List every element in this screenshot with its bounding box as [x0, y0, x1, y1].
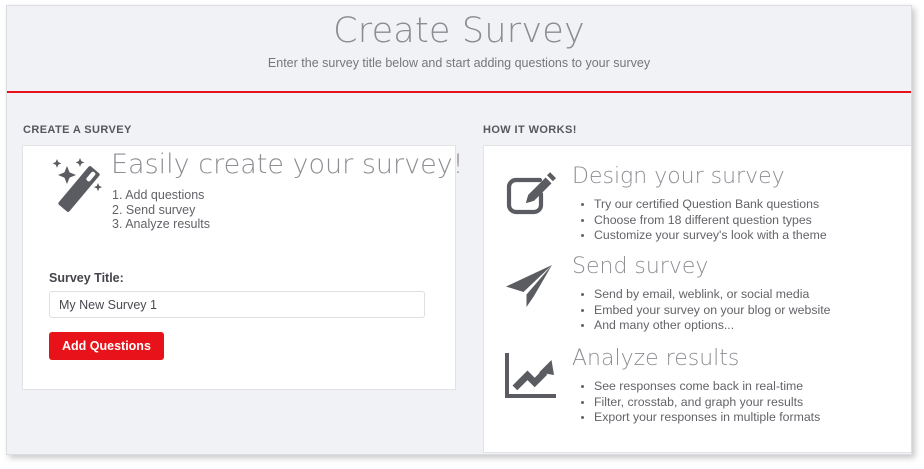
feature-bullets: Try our certified Question Bank question…: [576, 197, 827, 244]
bullet-item: Customize your survey's look with a them…: [594, 228, 827, 244]
feature-bullets: Send by email, weblink, or social media …: [576, 287, 831, 334]
create-survey-column: CREATE A SURVEY Easily create your surve…: [7, 93, 475, 454]
bullet-item: Send by email, weblink, or social media: [594, 287, 831, 303]
feature-heading: Design your survey: [572, 164, 785, 189]
app-window: Create Survey Enter the survey title bel…: [6, 5, 912, 455]
bullet-item: Filter, crosstab, and graph your results: [594, 395, 820, 411]
feature-heading: Send survey: [572, 254, 708, 279]
bullet-item: And many other options...: [594, 318, 831, 334]
bullet-item: Try our certified Question Bank question…: [594, 197, 827, 213]
feature-bullets: See responses come back in real-time Fil…: [576, 379, 820, 426]
step-item: 3. Analyze results: [112, 217, 210, 232]
bullet-item: Embed your survey on your blog or websit…: [594, 303, 831, 319]
add-questions-button[interactable]: Add Questions: [49, 332, 164, 360]
step-item: 2. Send survey: [112, 203, 210, 218]
how-it-works-card: Design your survey Try our certified Que…: [483, 145, 912, 453]
pencil-edit-icon: [502, 170, 558, 222]
feature-heading: Analyze results: [572, 346, 739, 371]
bullet-item: Export your responses in multiple format…: [594, 410, 820, 426]
bullet-item: Choose from 18 different question types: [594, 213, 827, 229]
create-survey-card: Easily create your survey! 1. Add questi…: [22, 145, 456, 390]
page-subtitle: Enter the survey title below and start a…: [7, 56, 911, 70]
how-it-works-column: HOW IT WORKS! Design your survey: [475, 93, 911, 454]
paper-plane-icon: [502, 260, 558, 312]
page-header: Create Survey Enter the survey title bel…: [7, 6, 911, 91]
line-chart-arrow-icon: [502, 352, 558, 404]
bullet-item: See responses come back in real-time: [594, 379, 820, 395]
create-survey-section-label: CREATE A SURVEY: [23, 124, 132, 136]
create-survey-steps: 1. Add questions 2. Send survey 3. Analy…: [112, 188, 210, 232]
step-item: 1. Add questions: [112, 188, 210, 203]
create-survey-heading: Easily create your survey!: [111, 149, 464, 180]
how-it-works-section-label: HOW IT WORKS!: [483, 124, 577, 136]
magic-wand-icon: [45, 156, 113, 218]
page-title: Create Survey: [7, 11, 911, 51]
survey-title-input[interactable]: [49, 291, 425, 318]
survey-title-label: Survey Title:: [49, 271, 124, 285]
